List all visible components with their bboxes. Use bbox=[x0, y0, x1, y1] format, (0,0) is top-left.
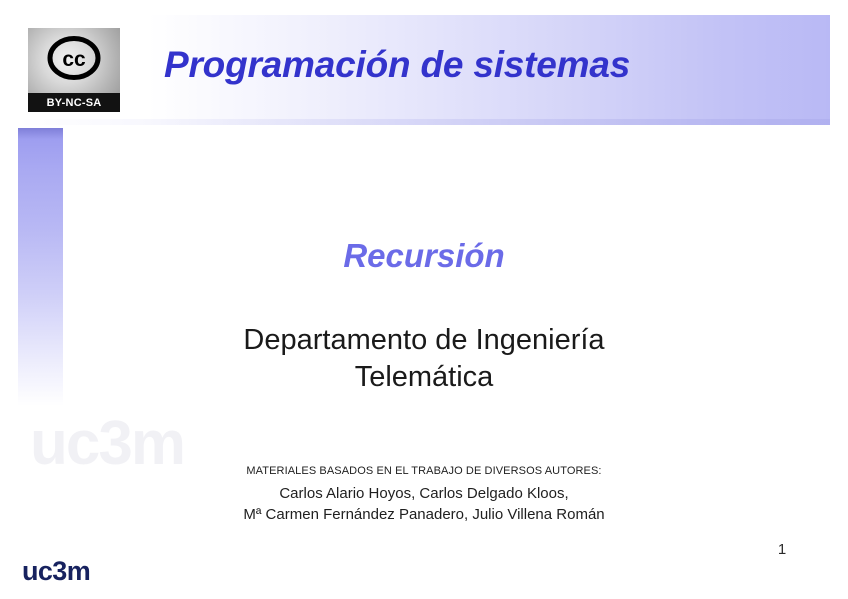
credits-names-line-2: Mª Carmen Fernández Panadero, Julio Vill… bbox=[0, 504, 848, 525]
department-line-1: Departamento de Ingeniería bbox=[0, 322, 848, 359]
cc-glyph-icon: cc bbox=[46, 36, 102, 80]
cc-circle-icon: cc bbox=[46, 36, 102, 80]
presentation-slide: cc BY-NC-SA Programación de sistemas uc3… bbox=[0, 0, 848, 599]
svg-text:cc: cc bbox=[62, 48, 86, 71]
department-line-2: Telemática bbox=[0, 359, 848, 396]
department-name: Departamento de Ingeniería Telemática bbox=[0, 322, 848, 396]
credits-heading: MATERIALES BASADOS EN EL TRABAJO DE DIVE… bbox=[0, 464, 848, 480]
creative-commons-license-icon: cc BY-NC-SA bbox=[28, 28, 120, 112]
course-title: Programación de sistemas bbox=[164, 44, 630, 86]
page-number: 1 bbox=[770, 541, 794, 558]
slide-subject-title: Recursión bbox=[0, 237, 848, 275]
credits-names-line-1: Carlos Alario Hoyos, Carlos Delgado Kloo… bbox=[0, 483, 848, 504]
uc3m-logo: uc3m bbox=[22, 556, 90, 587]
credits-block: MATERIALES BASADOS EN EL TRABAJO DE DIVE… bbox=[0, 464, 848, 526]
cc-terms-label: BY-NC-SA bbox=[28, 93, 120, 112]
header-divider bbox=[18, 119, 830, 125]
credits-names: Carlos Alario Hoyos, Carlos Delgado Kloo… bbox=[0, 483, 848, 526]
